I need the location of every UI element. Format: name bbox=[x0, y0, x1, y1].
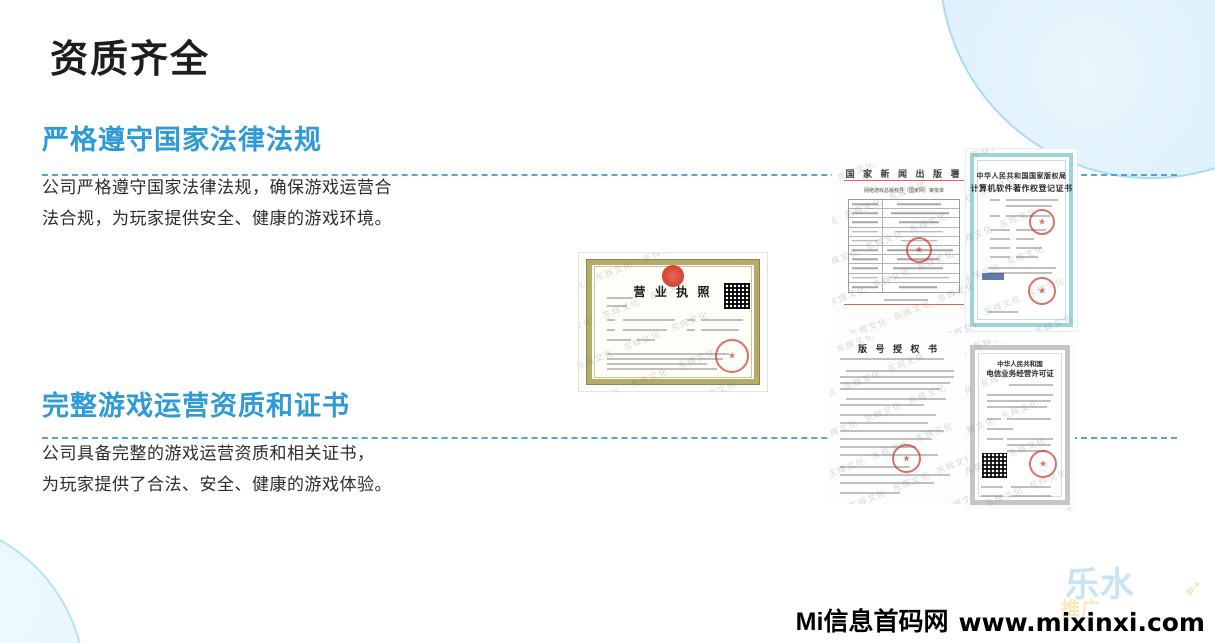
official-seal-icon: ★ bbox=[1028, 277, 1056, 305]
text-line bbox=[840, 414, 936, 416]
text-line bbox=[687, 319, 695, 321]
text-line bbox=[987, 428, 1013, 430]
qr-code-icon bbox=[724, 283, 750, 309]
table-row bbox=[849, 237, 959, 246]
text-line bbox=[623, 319, 675, 321]
text-line bbox=[1016, 256, 1038, 258]
license-auth-title: 版 号 授 权 书 bbox=[830, 342, 968, 355]
text-line bbox=[840, 382, 950, 384]
text-line bbox=[990, 229, 1010, 231]
text-line bbox=[987, 438, 1003, 440]
table-cell-label bbox=[849, 237, 883, 245]
site-url-watermark: www.mixinxi.com bbox=[958, 610, 1205, 635]
text-line bbox=[846, 398, 946, 400]
section-1-body-line-2: 法合规，为玩家提供安全、健康的游戏环境。 bbox=[42, 203, 392, 234]
text-line bbox=[990, 247, 1010, 249]
official-seal-icon: ★ bbox=[1029, 450, 1057, 478]
text-line bbox=[701, 319, 743, 321]
table-cell-label bbox=[849, 274, 883, 282]
table-cell-value bbox=[883, 228, 959, 236]
seal-star-icon: ★ bbox=[1039, 460, 1047, 469]
site-logo-watermark: 乐水 推广 ➶ bbox=[1039, 566, 1207, 628]
text-line bbox=[1011, 486, 1051, 488]
press-admin-title: 国 家 新 闻 出 版 署 bbox=[832, 167, 976, 180]
table-row bbox=[849, 228, 959, 237]
table-cell-label bbox=[849, 209, 883, 217]
table-row bbox=[849, 209, 959, 218]
official-seal-icon: ★ bbox=[892, 444, 921, 473]
text-line bbox=[840, 358, 944, 360]
table-row bbox=[849, 246, 959, 255]
telecom-title-line-2: 电信业务经营许可证 bbox=[965, 368, 1075, 379]
text-line bbox=[607, 358, 723, 360]
table-cell-label bbox=[849, 246, 883, 254]
site-watermark-bar: Mi信息首码网 www.mixinxi.com bbox=[0, 603, 1215, 641]
table-cell-label bbox=[849, 218, 883, 226]
text-line bbox=[840, 438, 932, 440]
seal-star-icon: ★ bbox=[902, 454, 910, 463]
seal-star-icon: ★ bbox=[1038, 287, 1046, 296]
qualifications-slide: 资质齐全 严格遵守国家法律法规 公司严格遵守国家法律法规，确保游戏运营合 法合规… bbox=[0, 0, 1215, 643]
section-1-body: 公司严格遵守国家法律法规，确保游戏运营合 法合规，为玩家提供安全、健康的游戏环境… bbox=[42, 172, 392, 235]
press-admin-table bbox=[848, 199, 960, 293]
text-line bbox=[607, 329, 615, 331]
text-line bbox=[987, 406, 1047, 408]
watermark-overlay: 东辉文化 东辉文化 东辉文化 东辉文化 东辉文化 东辉文化 东辉文化 东辉文化 … bbox=[830, 336, 968, 504]
text-line bbox=[637, 339, 655, 341]
text-line bbox=[840, 454, 938, 456]
red-rule-top bbox=[844, 180, 964, 181]
section-1-body-line-1: 公司严格遵守国家法律法规，确保游戏运营合 bbox=[42, 172, 392, 203]
table-cell-value bbox=[883, 200, 959, 208]
table-cell-value bbox=[883, 264, 959, 272]
text-line bbox=[990, 238, 1010, 240]
text-line bbox=[987, 418, 1001, 420]
text-line bbox=[990, 199, 1000, 201]
rocket-icon: ➶ bbox=[1183, 574, 1203, 603]
text-line bbox=[1016, 247, 1042, 249]
text-line bbox=[1006, 199, 1058, 201]
table-cell-label bbox=[849, 228, 883, 236]
section-operating-qualifications: 完整游戏运营资质和证书 公司具备完整的游戏运营资质和相关证书， 为玩家提供了合法… bbox=[42, 390, 392, 501]
copyright-title-line-2: 计算机软件著作权登记证书 bbox=[966, 183, 1077, 194]
table-cell-label bbox=[849, 200, 883, 208]
text-line bbox=[990, 256, 1010, 258]
qr-code-icon bbox=[982, 453, 1007, 478]
text-line bbox=[981, 486, 1003, 488]
text-line bbox=[607, 339, 631, 341]
seal-star-icon: ★ bbox=[915, 246, 923, 255]
text-line bbox=[687, 329, 695, 331]
text-line bbox=[846, 370, 954, 372]
copyright-stamp-icon bbox=[982, 273, 1004, 280]
section-legal-compliance: 严格遵守国家法律法规 公司严格遵守国家法律法规，确保游戏运营合 法合规，为玩家提… bbox=[42, 124, 392, 235]
table-row bbox=[849, 274, 959, 283]
official-seal-icon: ★ bbox=[715, 339, 749, 373]
text-line bbox=[981, 495, 1003, 497]
seal-star-icon: ★ bbox=[1038, 218, 1046, 227]
red-rule-bottom bbox=[844, 304, 964, 305]
logo-subtext: 推广 bbox=[1061, 600, 1101, 619]
section-2-body: 公司具备完整的游戏运营资质和相关证书， 为玩家提供了合法、安全、健康的游戏体验。 bbox=[42, 438, 392, 501]
text-line bbox=[1007, 444, 1051, 446]
official-seal-icon: ★ bbox=[1029, 209, 1055, 235]
press-admin-subtitle: 网络游戏总版权号（国家网）审批单 bbox=[832, 187, 976, 194]
telecom-title-line-1: 中华人民共和国 bbox=[965, 358, 1075, 368]
table-cell-value bbox=[883, 218, 959, 226]
text-line bbox=[840, 492, 900, 494]
table-row bbox=[849, 264, 959, 273]
table-row bbox=[849, 200, 959, 209]
decorative-circle-bottom-left bbox=[0, 518, 86, 643]
seal-star-icon: ★ bbox=[728, 352, 736, 361]
text-line bbox=[988, 311, 1018, 313]
certificate-license-authorization[interactable]: 版 号 授 权 书 ★ 东辉文化 东辉文化 东辉文化 东辉文化 东辉文化 东辉文… bbox=[830, 336, 968, 504]
text-line bbox=[1011, 495, 1051, 497]
text-line bbox=[701, 329, 739, 331]
text-line bbox=[1009, 384, 1053, 386]
table-cell-label bbox=[849, 264, 883, 272]
table-row bbox=[849, 218, 959, 227]
text-line bbox=[1016, 238, 1034, 240]
text-line bbox=[988, 267, 1056, 269]
text-line bbox=[987, 400, 1051, 402]
site-name-watermark: Mi信息首码网 bbox=[796, 610, 949, 635]
certificate-software-copyright[interactable]: 中华人民共和国国家版权局 计算机软件著作权登记证书 ★ ★ 东辉文化 东辉文化 … bbox=[965, 148, 1078, 332]
text-line bbox=[607, 305, 627, 307]
text-line bbox=[990, 215, 1000, 217]
text-line bbox=[607, 368, 717, 370]
text-line bbox=[1007, 418, 1051, 420]
table-cell-label bbox=[849, 255, 883, 263]
text-line bbox=[623, 329, 667, 331]
table-cell-value bbox=[883, 283, 959, 292]
text-line bbox=[840, 376, 954, 378]
certificate-telecom-business-license[interactable]: 中华人民共和国 电信业务经营许可证 ★ 东辉文化 东辉文化 东辉文化 东辉文化 … bbox=[965, 340, 1075, 510]
text-line bbox=[840, 482, 934, 484]
table-row bbox=[849, 283, 959, 292]
official-seal-icon: ★ bbox=[906, 237, 932, 263]
text-line bbox=[1006, 205, 1052, 207]
section-2-body-line-2: 为玩家提供了合法、安全、健康的游戏体验。 bbox=[42, 469, 392, 500]
table-cell-value bbox=[883, 209, 959, 217]
copyright-title-line-1: 中华人民共和国国家版权局 bbox=[966, 171, 1077, 181]
section-2-heading: 完整游戏运营资质和证书 bbox=[42, 390, 392, 424]
certificate-business-license[interactable]: 营 业 执 照 ★ 东辉文化 东辉文化 东辉文化 东辉文化 东辉文化 东辉文化 … bbox=[578, 252, 768, 392]
text-line bbox=[840, 404, 924, 406]
text-line bbox=[1007, 438, 1053, 440]
page-title: 资质齐全 bbox=[50, 38, 210, 84]
logo-text: 乐水 bbox=[1065, 568, 1135, 602]
text-line bbox=[607, 363, 707, 365]
text-line bbox=[840, 388, 940, 390]
section-2-body-line-1: 公司具备完整的游戏运营资质和相关证书， bbox=[42, 438, 392, 469]
table-cell-label bbox=[849, 283, 883, 292]
text-line bbox=[840, 430, 944, 432]
text-line bbox=[607, 319, 615, 321]
table-row bbox=[849, 255, 959, 264]
text-line bbox=[840, 474, 950, 476]
text-line bbox=[840, 422, 928, 424]
table-cell-value bbox=[883, 274, 959, 282]
text-line bbox=[607, 353, 729, 355]
certificate-press-administration[interactable]: 国 家 新 闻 出 版 署 网络游戏总版权号（国家网）审批单 ★ 东辉文化 东辉… bbox=[832, 163, 976, 333]
text-line bbox=[884, 299, 928, 301]
section-1-heading: 严格遵守国家法律法规 bbox=[42, 124, 392, 158]
text-line bbox=[987, 394, 1053, 396]
